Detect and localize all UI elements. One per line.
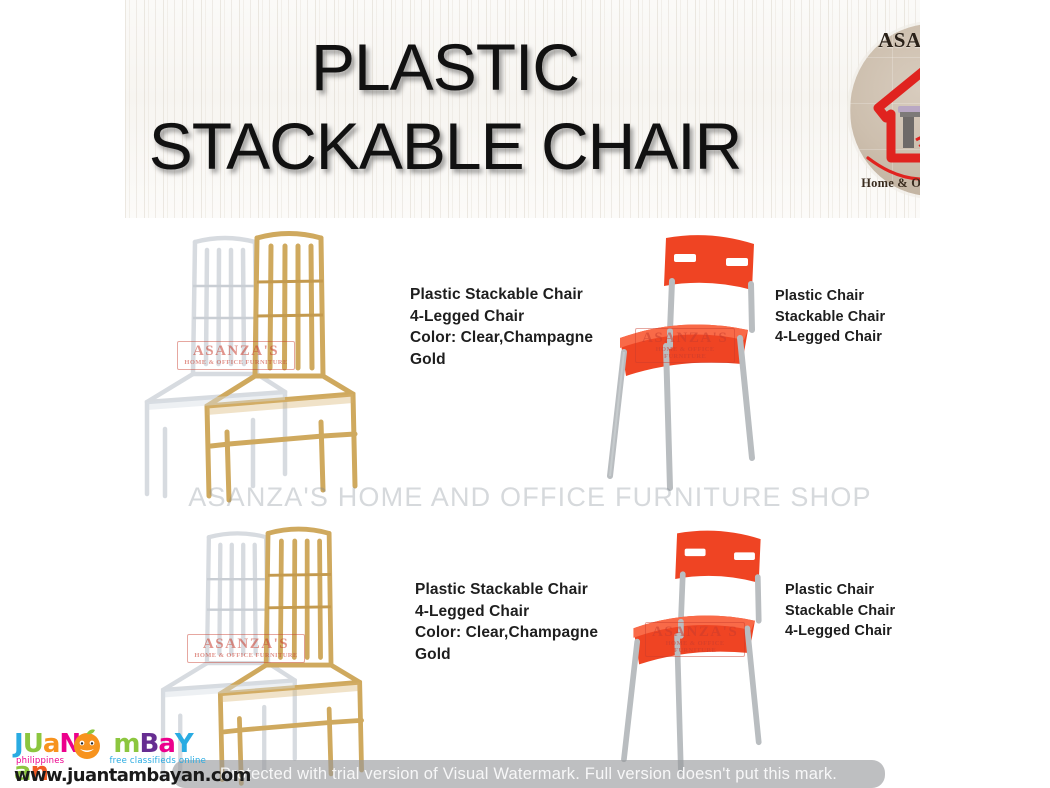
orange-mascot-icon (70, 726, 104, 760)
product-flyer-image: PLASTIC STACKABLE CHAIR ASANZA'S Home & … (0, 0, 1050, 788)
juantambayan-logo[interactable]: JUaNTamBaYan philippines free classified… (8, 730, 208, 786)
logo-tagline: Home & Office Furniture (836, 176, 920, 191)
page-title: PLASTIC STACKABLE CHAIR (135, 28, 755, 186)
juantambayan-url[interactable]: www.juantambayan.com (14, 765, 251, 786)
jt-letter-8: a (158, 730, 175, 758)
spec-text-clear-chair: Plastic Stackable Chair 4-Legged Chair C… (415, 579, 598, 665)
jt-letter-7: B (140, 730, 159, 758)
spec-text-red-chair: Plastic Chair Stackable Chair 4-Legged C… (775, 286, 885, 348)
clear-gold-chairs-photo (135, 224, 425, 509)
spec-text-red-chair: Plastic Chair Stackable Chair 4-Legged C… (785, 580, 895, 642)
visual-watermark-bar: Protected with trial version of Visual W… (172, 760, 885, 788)
red-chair-photo (610, 522, 785, 784)
jt-letter-0: J (14, 730, 23, 758)
product-section-top: ASANZA'S HOME & OFFICE FURNITURE Plastic… (125, 220, 920, 513)
asanzas-logo: ASANZA'S Home & Office Furniture (836, 12, 920, 204)
flyer-banner: PLASTIC STACKABLE CHAIR ASANZA'S Home & … (125, 0, 920, 218)
logo-brand-name: ASANZA'S (836, 28, 920, 53)
jt-letter-9: Y (175, 730, 193, 758)
jt-letter-2: a (43, 730, 60, 758)
visual-watermark-text: Protected with trial version of Visual W… (172, 760, 885, 788)
spec-text-clear-chair: Plastic Stackable Chair 4-Legged Chair C… (410, 284, 593, 370)
jt-letter-1: U (23, 730, 43, 758)
product-section-bottom: ASANZA'S HOME & OFFICE FURNITURE Plastic… (125, 516, 920, 788)
red-chair-photo (600, 226, 775, 502)
jt-letter-6: m (113, 730, 139, 758)
